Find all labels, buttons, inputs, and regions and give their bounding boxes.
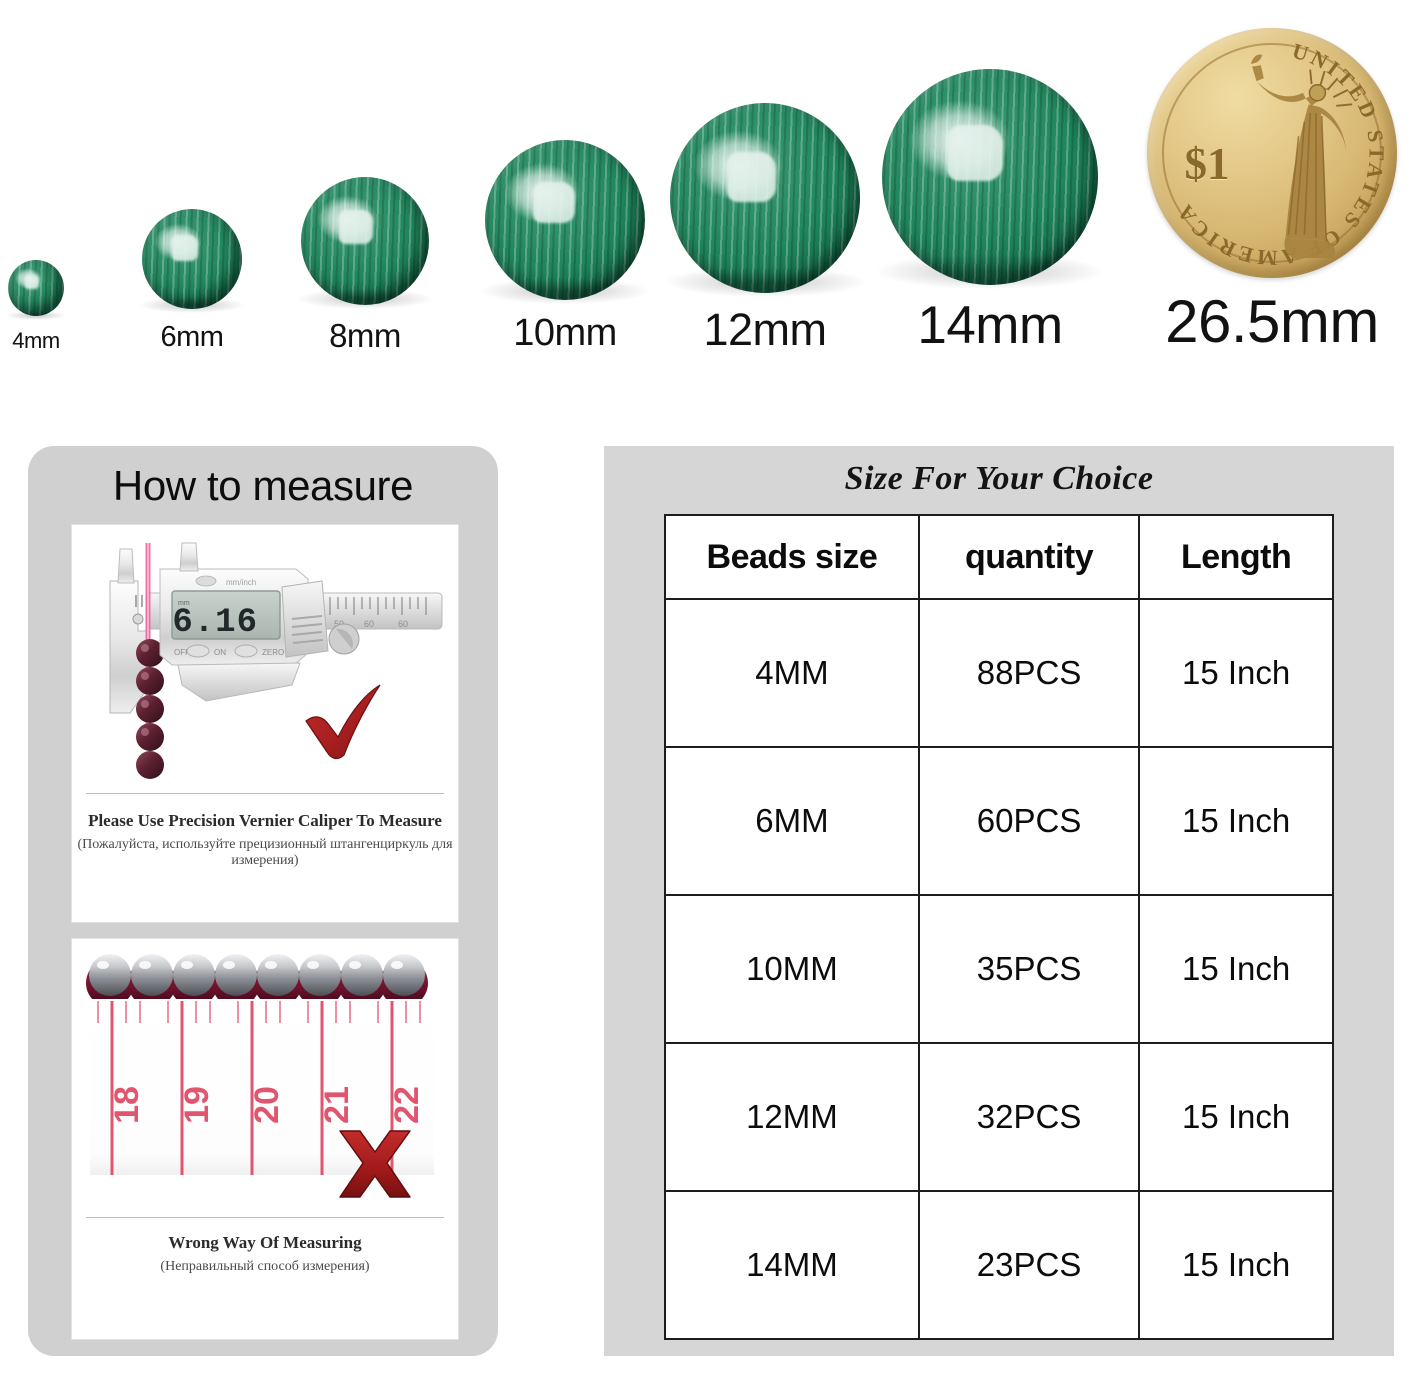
dollar-coin-icon: UNITED STATES OF AMERICA$1	[1147, 28, 1397, 278]
cell-beads-size: 10MM	[665, 895, 919, 1043]
cell-length: 15 Inch	[1139, 1043, 1333, 1191]
bead-size-label: 4mm	[12, 330, 59, 352]
bead-size-label: 26.5mm	[1165, 292, 1379, 352]
coin-denomination: $1	[1185, 138, 1230, 190]
column-header-beads-size: Beads size	[665, 515, 919, 599]
table-header-row: Beads size quantity Length	[665, 515, 1333, 599]
cell-beads-size: 4MM	[665, 599, 919, 747]
cell-quantity: 35PCS	[919, 895, 1139, 1043]
bead-shadow	[140, 297, 245, 313]
coin-size-item: UNITED STATES OF AMERICA$126.5mm	[1147, 28, 1397, 352]
svg-text:60: 60	[398, 619, 408, 629]
vernier-caliper-icon: 50 60 60	[86, 535, 444, 783]
malachite-bead	[485, 140, 645, 300]
table-row: 6MM60PCS15 Inch	[665, 747, 1333, 895]
svg-text:mm/inch: mm/inch	[226, 578, 256, 587]
bead-size-item: 10mm	[485, 140, 645, 352]
svg-text:19: 19	[178, 1086, 216, 1124]
card-divider	[86, 1217, 444, 1218]
cell-length: 15 Inch	[1139, 599, 1333, 747]
malachite-bead	[301, 177, 429, 305]
malachite-bead	[142, 209, 242, 309]
bead-size-label: 14mm	[917, 299, 1062, 352]
bead-size-item: 8mm	[301, 177, 429, 352]
cell-quantity: 23PCS	[919, 1191, 1139, 1339]
right-way-card: 50 60 60	[71, 524, 459, 923]
bead-shadow	[665, 267, 865, 297]
size-table: Beads size quantity Length 4MM88PCS15 In…	[664, 514, 1334, 1340]
bead-shadow	[481, 278, 649, 304]
right-way-caption-ru: (Пожалуйста, используйте прецизионный шт…	[72, 837, 458, 869]
bead-size-label: 12mm	[703, 307, 826, 352]
how-to-measure-title: How to measure	[28, 462, 498, 510]
bead-size-item: 4mm	[8, 260, 64, 352]
caliper-photo: 50 60 60	[86, 535, 444, 783]
card-divider	[86, 793, 444, 794]
svg-text:ON: ON	[214, 648, 226, 657]
svg-text:20: 20	[248, 1086, 286, 1124]
bead-size-label: 10mm	[513, 314, 617, 352]
size-table-title: Size For Your Choice	[604, 460, 1394, 498]
cross-mark-icon	[332, 1121, 418, 1207]
cell-length: 15 Inch	[1139, 895, 1333, 1043]
table-row: 10MM35PCS15 Inch	[665, 895, 1333, 1043]
column-header-quantity: quantity	[919, 515, 1139, 599]
bead-shadow	[7, 311, 66, 320]
wrong-way-caption-ru: (Неправильный способ измерения)	[72, 1259, 458, 1275]
bead-shadow	[877, 254, 1104, 289]
svg-text:ZERO: ZERO	[262, 648, 284, 657]
svg-text:60: 60	[364, 619, 374, 629]
bead-size-label: 6mm	[161, 323, 224, 352]
bead-size-item: 6mm	[142, 209, 242, 352]
cell-beads-size: 6MM	[665, 747, 919, 895]
cell-quantity: 32PCS	[919, 1043, 1139, 1191]
table-row: 4MM88PCS15 Inch	[665, 599, 1333, 747]
right-way-caption-en: Please Use Precision Vernier Caliper To …	[72, 811, 458, 831]
statue-of-liberty-icon	[1242, 48, 1387, 268]
bead-size-item: 12mm	[670, 103, 860, 352]
how-to-measure-panel: How to measure	[28, 446, 498, 1356]
check-mark-icon	[298, 675, 390, 767]
table-row: 14MM23PCS15 Inch	[665, 1191, 1333, 1339]
malachite-bead	[882, 69, 1098, 285]
svg-text:6.16: 6.16	[172, 604, 258, 642]
cell-length: 15 Inch	[1139, 747, 1333, 895]
table-row: 12MM32PCS15 Inch	[665, 1043, 1333, 1191]
malachite-bead	[8, 260, 64, 316]
wrong-way-caption-en: Wrong Way Of Measuring	[72, 1233, 458, 1253]
svg-text:22: 22	[388, 1086, 426, 1124]
cell-beads-size: 12MM	[665, 1043, 919, 1191]
measuring-tape-photo: 18 19 20 21 22	[86, 949, 444, 1207]
size-table-panel: Size For Your Choice Beads size quantity…	[604, 446, 1394, 1356]
bead-size-item: 14mm	[882, 69, 1098, 352]
svg-text:18: 18	[108, 1086, 146, 1124]
bead-shadow	[298, 289, 432, 309]
cell-length: 15 Inch	[1139, 1191, 1333, 1339]
malachite-bead	[670, 103, 860, 293]
cell-quantity: 60PCS	[919, 747, 1139, 895]
bead-size-label: 8mm	[329, 319, 401, 352]
wrong-way-card: 18 19 20 21 22	[71, 938, 459, 1340]
column-header-length: Length	[1139, 515, 1333, 599]
size-comparison-strip: 4mm6mm8mm10mm12mm14mmUNITED STATES OF AM…	[0, 0, 1414, 352]
svg-text:21: 21	[318, 1086, 356, 1124]
cell-quantity: 88PCS	[919, 599, 1139, 747]
cell-beads-size: 14MM	[665, 1191, 919, 1339]
